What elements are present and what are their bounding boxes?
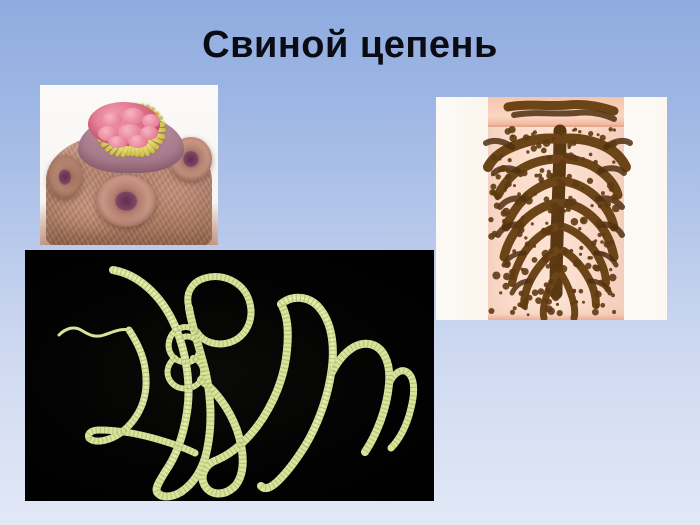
whole-worm-illustration — [25, 250, 434, 501]
uterus-upper-fragment — [508, 104, 614, 119]
rostellum-lobe — [102, 112, 122, 127]
scolex-photo — [40, 85, 218, 245]
rostellum-core — [88, 102, 160, 146]
presentation-slide: Свиной цепень — [0, 0, 700, 525]
sucker-front-icon — [96, 175, 156, 227]
gravid-proglottid-photo — [436, 97, 667, 320]
rostellum-lobe — [122, 108, 144, 124]
worm-segmentation-group — [58, 267, 416, 501]
whole-worm-photo-backdrop — [25, 250, 434, 501]
uterus-branch-illustration — [436, 97, 667, 320]
rostellum-lobe — [108, 136, 128, 148]
rostellum-lobe — [128, 135, 148, 148]
scolex-photo-backdrop — [40, 85, 218, 245]
gravid-proglottid-backdrop — [436, 97, 667, 320]
whole-worm-photo — [25, 250, 434, 501]
page-title: Свиной цепень — [0, 22, 700, 68]
worm-strand-group — [59, 270, 414, 497]
